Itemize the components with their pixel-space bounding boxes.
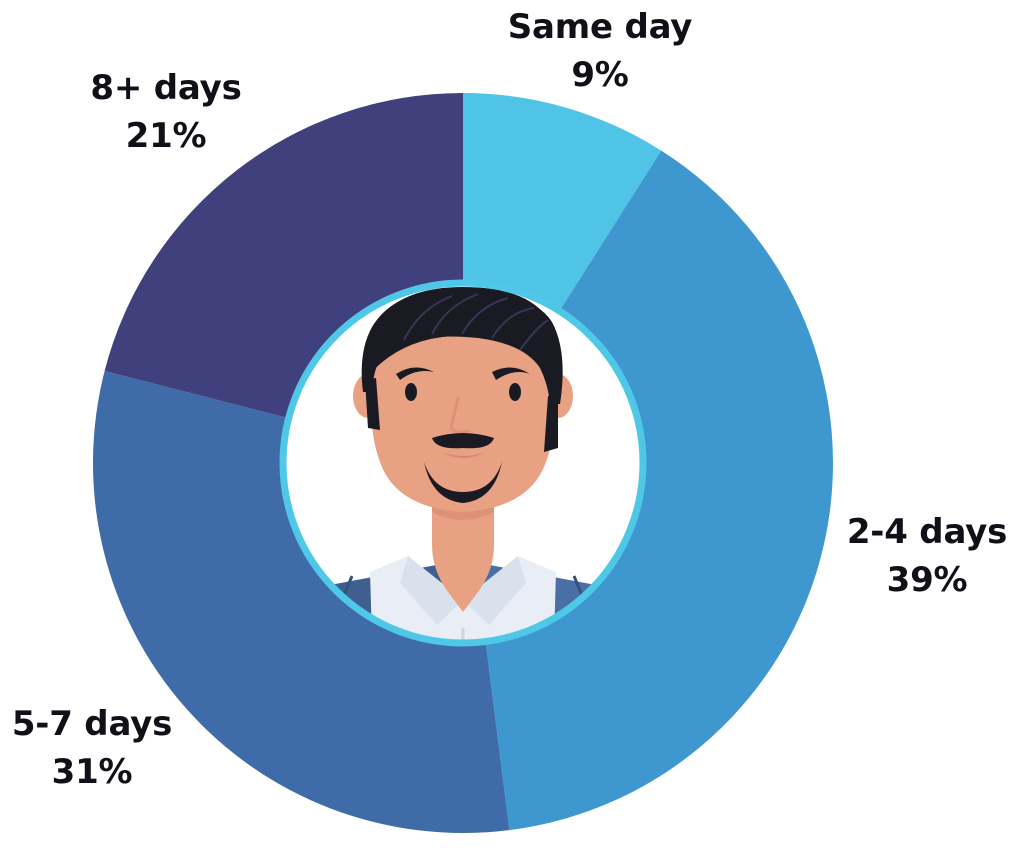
slice-label-value-5-7-days: 31% [52, 752, 133, 792]
slice-label-name-5-7-days: 5-7 days [12, 704, 172, 744]
avatar-eye-left [405, 383, 417, 401]
donut-chart-svg: Same day9%2-4 days39%5-7 days31%8+ days2… [0, 0, 1024, 851]
slice-label-name-same-day: Same day [508, 7, 693, 47]
slice-label-value-2-4-days: 39% [887, 560, 968, 600]
avatar-eye-right [509, 383, 521, 401]
slice-label-name-2-4-days: 2-4 days [847, 512, 1007, 552]
slice-label-value-same-day: 9% [571, 55, 628, 95]
slice-label-name-8-days: 8+ days [90, 68, 241, 108]
donut-chart-figure: Same day9%2-4 days39%5-7 days31%8+ days2… [0, 0, 1024, 851]
slice-label-value-8-days: 21% [126, 116, 207, 156]
